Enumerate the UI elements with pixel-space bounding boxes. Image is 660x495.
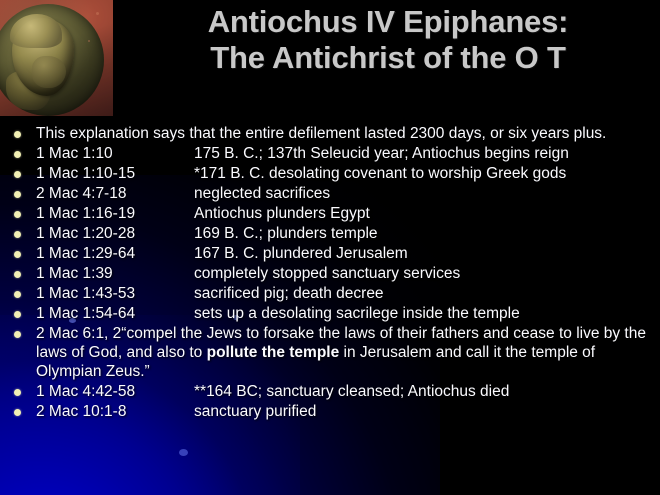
bullet-icon — [14, 151, 21, 158]
list-item: 1 Mac 1:10-15 *171 B. C. desolating cove… — [0, 164, 660, 183]
antiochus-coin-image — [0, 0, 113, 116]
list-item: 1 Mac 1:16-19 Antiochus plunders Egypt — [0, 204, 660, 223]
bullet-icon — [14, 409, 21, 416]
list-item: 1 Mac 1:20-28 169 B. C.; plunders temple — [0, 224, 660, 243]
event-description: **164 BC; sanctuary cleansed; Antiochus … — [194, 382, 660, 401]
coin-shading-overlay — [0, 0, 113, 116]
bullet-icon — [14, 191, 21, 198]
list-item-text: This explanation says that the entire de… — [21, 124, 660, 143]
bullet-icon — [14, 271, 21, 278]
scripture-reference: 1 Mac 1:29-64 — [36, 244, 194, 263]
bullet-icon — [14, 231, 21, 238]
scripture-reference: 1 Mac 1:20-28 — [36, 224, 194, 243]
scripture-reference: 2 Mac 6:1, 2 — [36, 324, 121, 343]
bullet-icon — [14, 389, 21, 396]
scripture-reference: 2 Mac 4:7-18 — [36, 184, 194, 203]
bullet-icon — [14, 331, 21, 338]
event-description: neglected sacrifices — [194, 184, 660, 203]
slide-title: Antiochus IV Epiphanes: The Antichrist o… — [120, 4, 656, 76]
scripture-reference: 1 Mac 1:10-15 — [36, 164, 194, 183]
slide: Antiochus IV Epiphanes: The Antichrist o… — [0, 0, 660, 495]
scripture-reference: 1 Mac 1:16-19 — [36, 204, 194, 223]
list-item-quote: 2 Mac 6:1, 2“compel the Jews to forsake … — [0, 324, 660, 381]
bullet-icon — [14, 211, 21, 218]
list-item: This explanation says that the entire de… — [0, 124, 660, 143]
scripture-reference: 1 Mac 1:10 — [36, 144, 194, 163]
bullet-list: This explanation says that the entire de… — [0, 124, 660, 422]
scripture-reference: 2 Mac 10:1-8 — [36, 402, 194, 421]
event-description: completely stopped sanctuary services — [194, 264, 660, 283]
background-speck — [179, 449, 188, 456]
bullet-icon — [14, 171, 21, 178]
title-line-2: The Antichrist of the O T — [120, 40, 656, 76]
event-description: sets up a desolating sacrilege inside th… — [194, 304, 660, 323]
scripture-reference: 1 Mac 1:39 — [36, 264, 194, 283]
bullet-icon — [14, 251, 21, 258]
event-description: *171 B. C. desolating covenant to worshi… — [194, 164, 660, 183]
event-description: 167 B. C. plundered Jerusalem — [194, 244, 660, 263]
quote-body: 2 Mac 6:1, 2“compel the Jews to forsake … — [21, 324, 660, 381]
list-item: 2 Mac 10:1-8 sanctuary purified — [0, 402, 660, 421]
event-description: 169 B. C.; plunders temple — [194, 224, 660, 243]
list-item: 1 Mac 1:10 175 B. C.; 137th Seleucid yea… — [0, 144, 660, 163]
bullet-icon — [14, 311, 21, 318]
list-item: 1 Mac 4:42-58 **164 BC; sanctuary cleans… — [0, 382, 660, 401]
event-description: Antiochus plunders Egypt — [194, 204, 660, 223]
scripture-reference: 1 Mac 1:43-53 — [36, 284, 194, 303]
title-line-1: Antiochus IV Epiphanes: — [120, 4, 656, 40]
event-description: sanctuary purified — [194, 402, 660, 421]
list-item: 1 Mac 1:39 completely stopped sanctuary … — [0, 264, 660, 283]
list-item: 1 Mac 1:29-64 167 B. C. plundered Jerusa… — [0, 244, 660, 263]
quote-emphasis: pollute the temple — [207, 344, 340, 361]
bullet-icon — [14, 131, 21, 138]
event-description: 175 B. C.; 137th Seleucid year; Antiochu… — [194, 144, 660, 163]
scripture-reference: 1 Mac 1:54-64 — [36, 304, 194, 323]
event-description: sacrificed pig; death decree — [194, 284, 660, 303]
list-item: 2 Mac 4:7-18 neglected sacrifices — [0, 184, 660, 203]
list-item: 1 Mac 1:54-64 sets up a desolating sacri… — [0, 304, 660, 323]
list-item: 1 Mac 1:43-53 sacrificed pig; death decr… — [0, 284, 660, 303]
bullet-icon — [14, 291, 21, 298]
scripture-reference: 1 Mac 4:42-58 — [36, 382, 194, 401]
